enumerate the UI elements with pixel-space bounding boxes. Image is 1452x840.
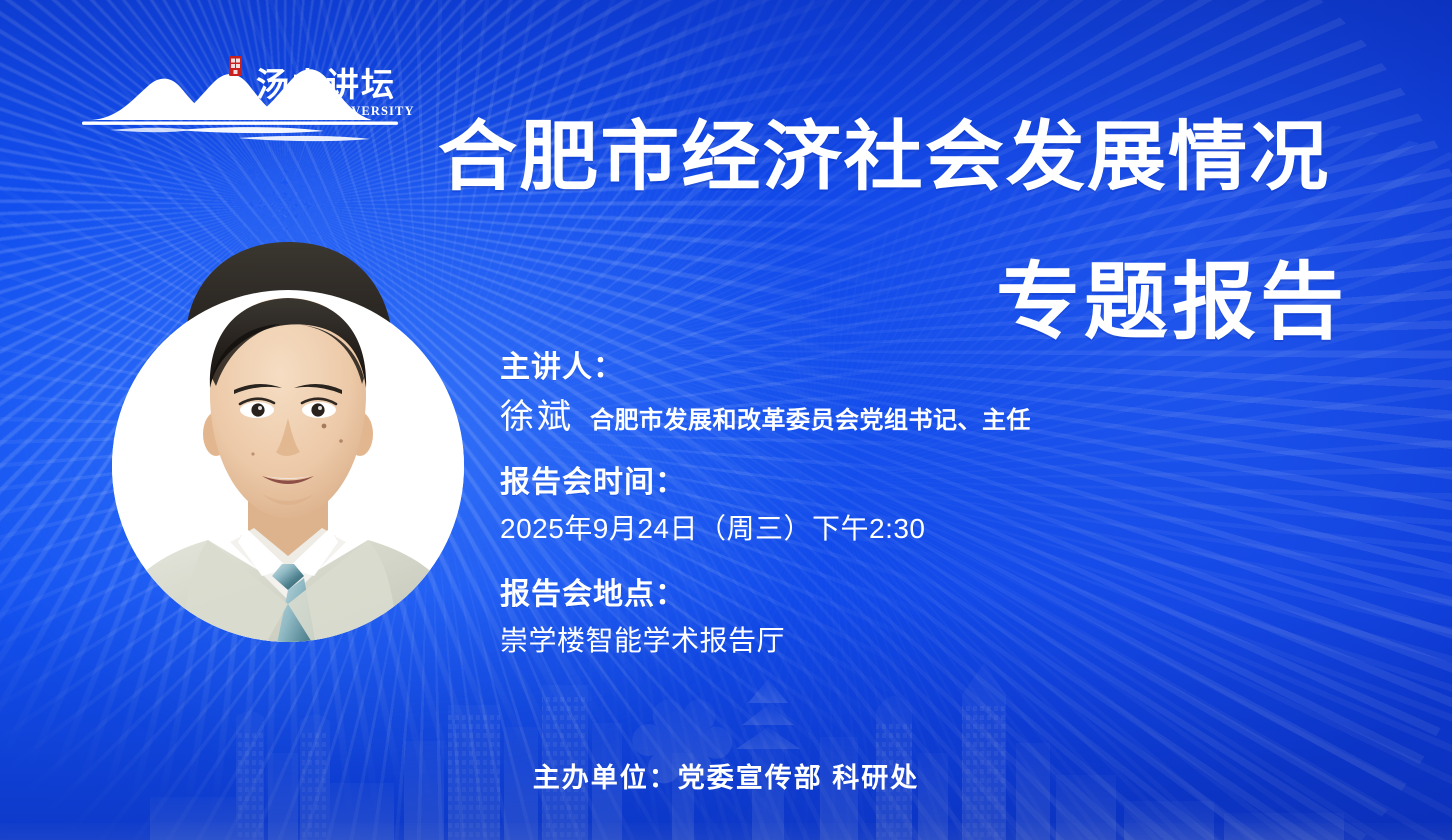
time-value: 2025年9月24日（周三）下午2:30 <box>500 507 1380 551</box>
time-label: 报告会时间： <box>500 461 1380 505</box>
venue-value: 崇学楼智能学术报告厅 <box>500 619 1380 663</box>
organizer-label: 主办单位： <box>533 763 678 793</box>
venue-label: 报告会地点： <box>500 573 1380 617</box>
chaohu-university-logo: 汤山讲坛 CHAOHU UNIVERSITY <box>74 52 414 144</box>
speaker-name: 徐斌 <box>500 394 574 440</box>
speaker-row: 徐斌 合肥市发展和改革委员会党组书记、主任 <box>500 394 1380 441</box>
speaker-photo <box>112 228 464 668</box>
logo-name: 汤山讲坛 <box>256 67 396 104</box>
event-details: 主讲人： 徐斌 合肥市发展和改革委员会党组书记、主任 报告会时间： 2025年9… <box>500 346 1380 663</box>
speaker-portrait <box>112 228 464 668</box>
logo-subtitle: CHAOHU UNIVERSITY <box>258 104 414 118</box>
speaker-title: 合肥市发展和改革委员会党组书记、主任 <box>590 401 1031 441</box>
red-seal-icon <box>229 56 242 76</box>
poster-canvas: 汤山讲坛 CHAOHU UNIVERSITY <box>0 0 1452 840</box>
speaker-label: 主讲人： <box>500 346 1380 390</box>
page-title-line2: 专题报告 <box>996 252 1348 352</box>
page-title-line1: 合肥市经济社会发展情况 <box>438 112 1386 204</box>
organizer-names: 党委宣传部 科研处 <box>678 763 920 793</box>
organizer-footer: 主办单位：党委宣传部 科研处 <box>0 756 1452 795</box>
